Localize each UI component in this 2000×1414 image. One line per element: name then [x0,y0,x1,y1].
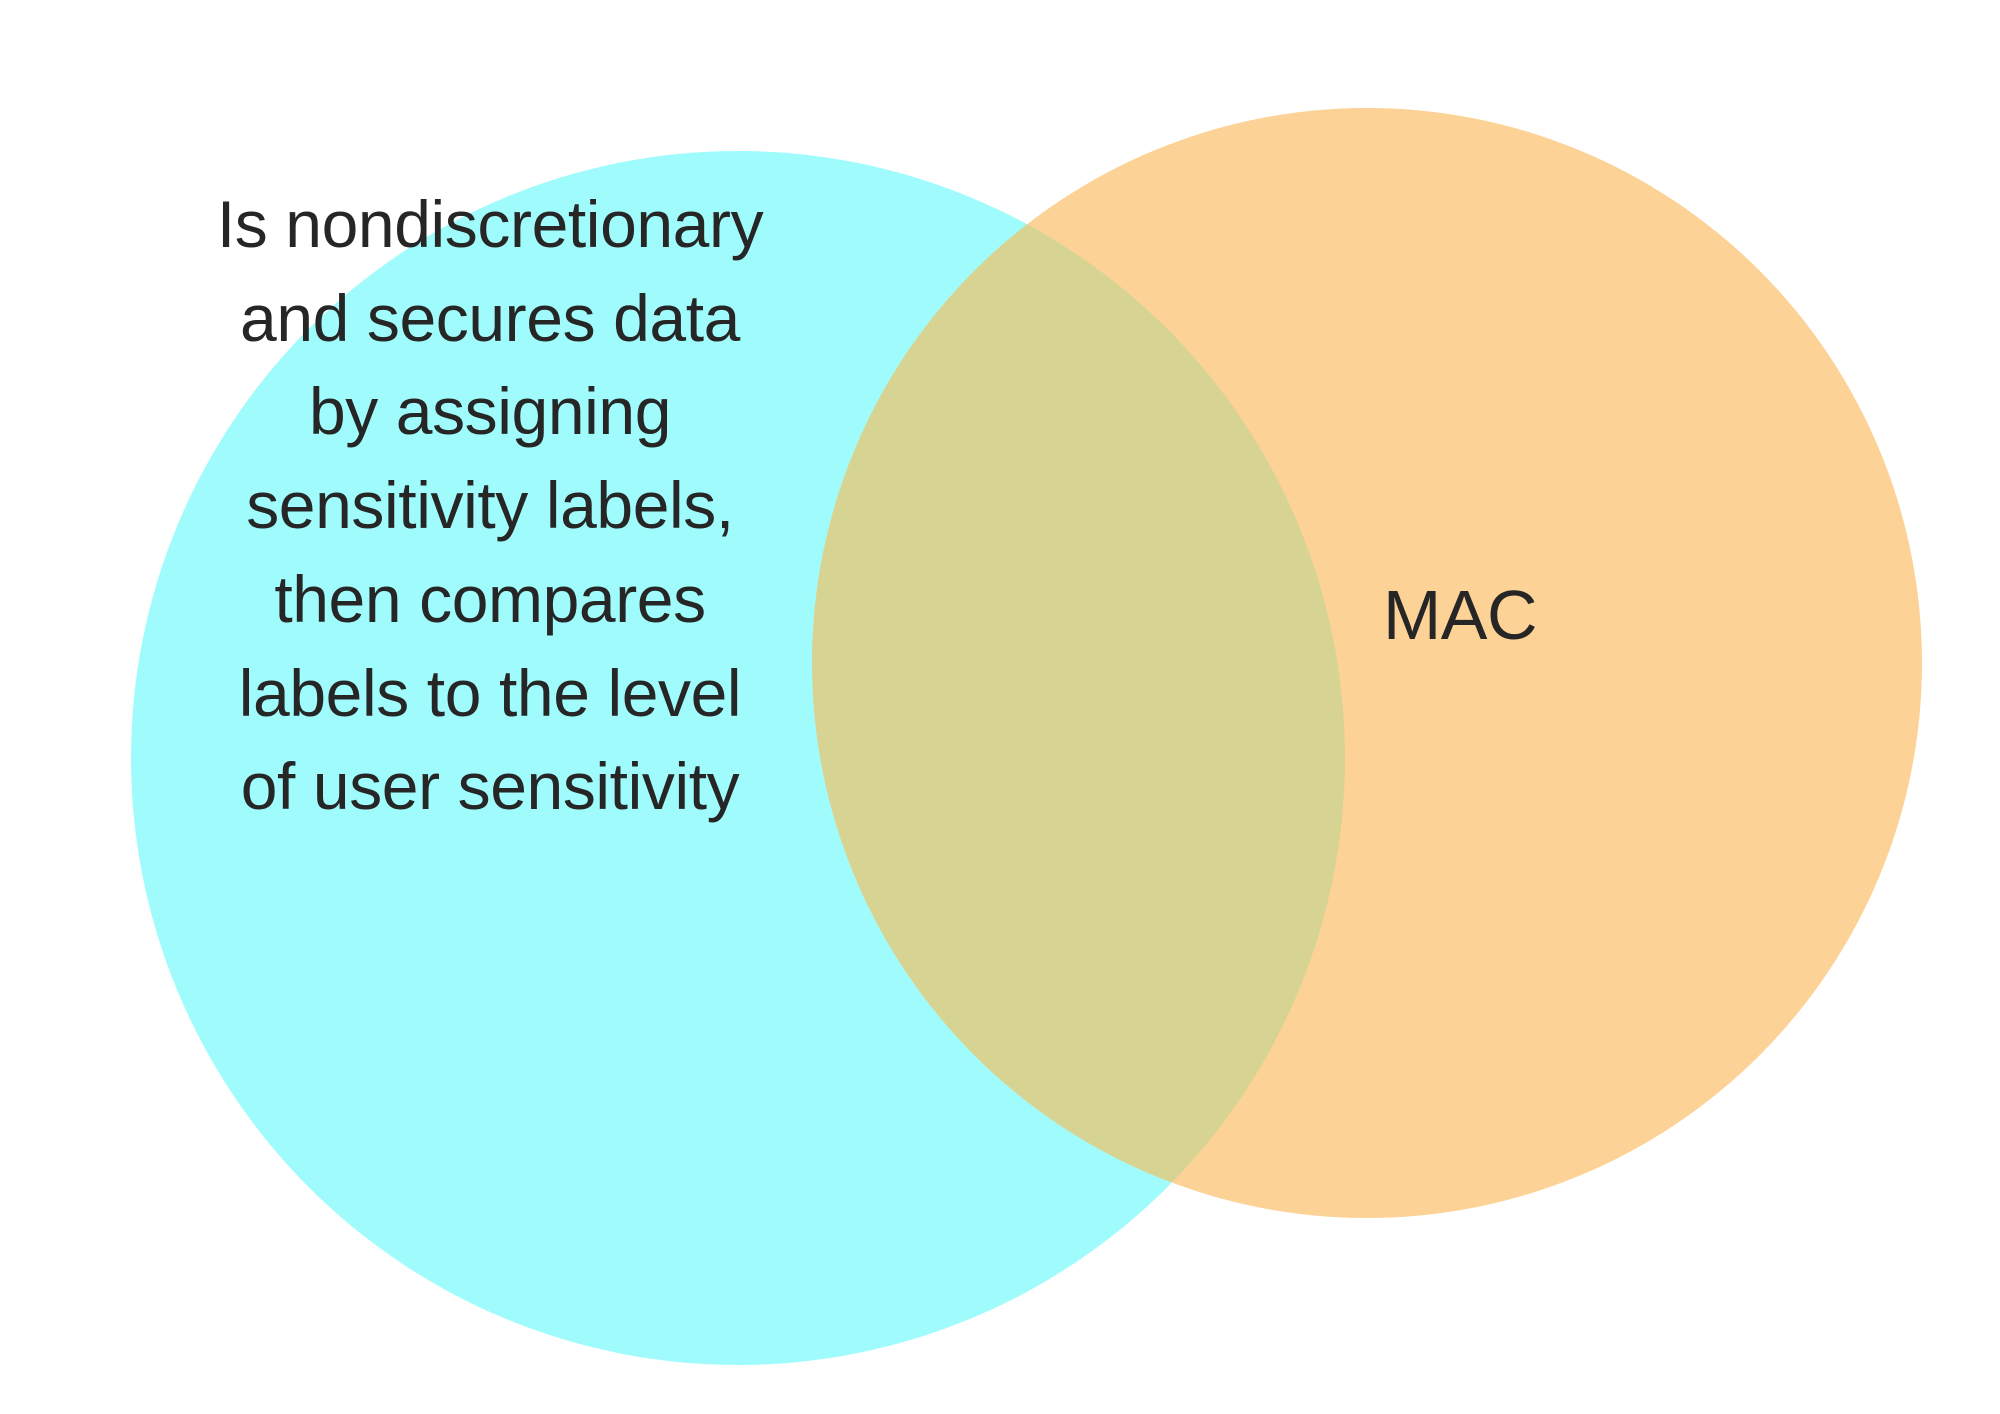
venn-diagram-canvas: Is nondiscretionary and secures data by … [0,0,2000,1414]
right-set-label-text: MAC [1240,573,1680,657]
left-set-description-text: Is nondiscretionary and secures data by … [120,178,860,834]
